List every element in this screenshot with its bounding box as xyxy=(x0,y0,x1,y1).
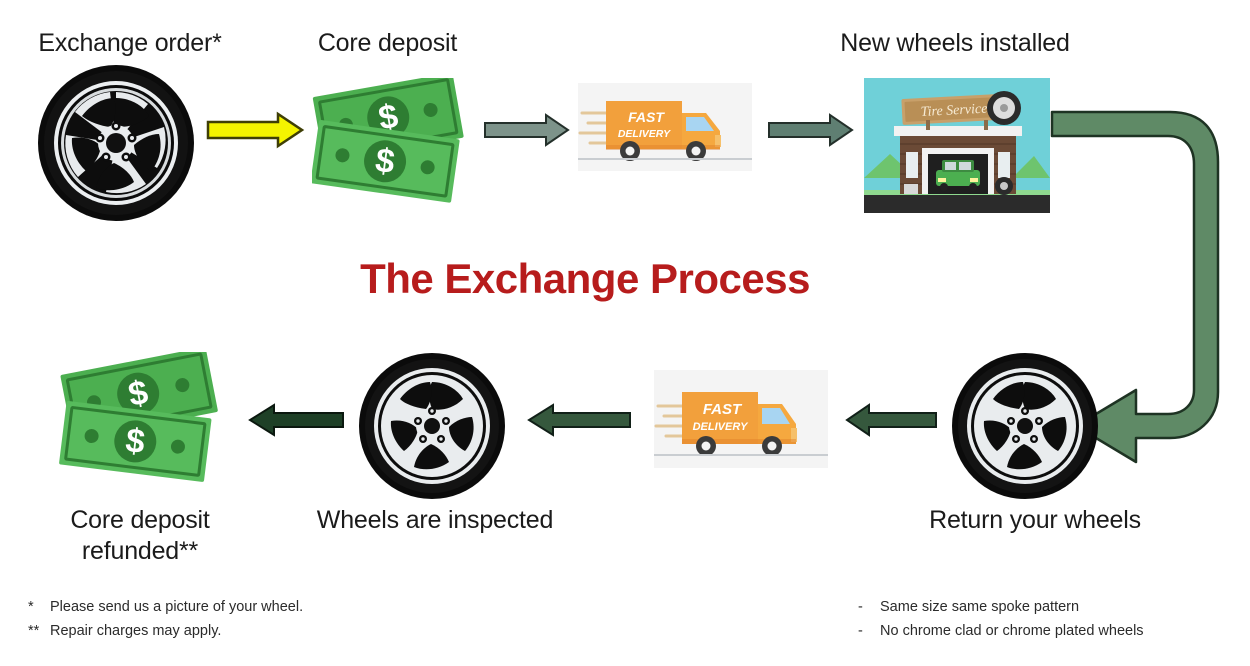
footnote-mark: ** xyxy=(28,619,50,643)
exchange-process-diagram: Exchange order* Core deposit New wheels … xyxy=(0,0,1250,666)
label-return-your-wheels: Return your wheels xyxy=(890,505,1180,536)
delivery-truck-icon-bottom: FAST DELIVERY xyxy=(654,370,828,468)
alloy-wheel-silver-icon-inspected xyxy=(357,352,507,500)
label-core-deposit-refunded: Core deposit refunded** xyxy=(20,505,260,567)
footnote-left-1: *Please send us a picture of your wheel. xyxy=(28,595,478,619)
footnote-text: Please send us a picture of your wheel. xyxy=(50,599,303,615)
tire-service-shop-icon: Tire Service xyxy=(864,78,1050,213)
alloy-wheel-silver-icon-return xyxy=(950,352,1100,500)
footnote-right-1: -Same size same spoke pattern xyxy=(858,595,1250,619)
arrow-inspect-to-refund xyxy=(248,404,344,436)
footnote-mark: * xyxy=(28,595,50,619)
page-title: The Exchange Process xyxy=(275,255,895,303)
label-wheels-are-inspected: Wheels are inspected xyxy=(295,505,575,536)
arrow-deposit-to-truck xyxy=(484,114,570,146)
footnote-text: No chrome clad or chrome plated wheels xyxy=(880,623,1144,639)
footnotes-right: -Same size same spoke pattern -No chrome… xyxy=(858,595,1250,643)
label-exchange-order: Exchange order* xyxy=(10,28,250,59)
label-new-wheels-installed: New wheels installed xyxy=(810,28,1100,59)
alloy-wheel-black-icon xyxy=(36,64,196,222)
footnotes-left: *Please send us a picture of your wheel.… xyxy=(28,595,478,643)
label-core-deposit: Core deposit xyxy=(280,28,495,59)
truck-text-fast: FAST xyxy=(628,109,665,125)
footnote-text: Same size same spoke pattern xyxy=(880,599,1079,615)
arrow-order-to-deposit xyxy=(206,112,304,148)
arrow-truck-to-shop xyxy=(768,114,854,146)
delivery-truck-icon-top: FAST DELIVERY xyxy=(578,83,752,171)
svg-text:DELIVERY: DELIVERY xyxy=(693,421,749,433)
footnote-text: Repair charges may apply. xyxy=(50,623,221,639)
cash-money-icon: $ $ xyxy=(312,78,472,203)
cash-money-icon-refund: $ $ xyxy=(58,352,228,487)
truck-text-delivery: DELIVERY xyxy=(618,128,671,140)
footnote-left-2: **Repair charges may apply. xyxy=(28,619,478,643)
svg-text:FAST: FAST xyxy=(703,401,743,418)
footnote-mark: - xyxy=(858,619,880,643)
arrow-truck-to-inspect xyxy=(527,404,631,436)
arrow-return-to-truck xyxy=(845,404,937,436)
footnote-right-2: -No chrome clad or chrome plated wheels xyxy=(858,619,1250,643)
footnote-mark: - xyxy=(858,595,880,619)
